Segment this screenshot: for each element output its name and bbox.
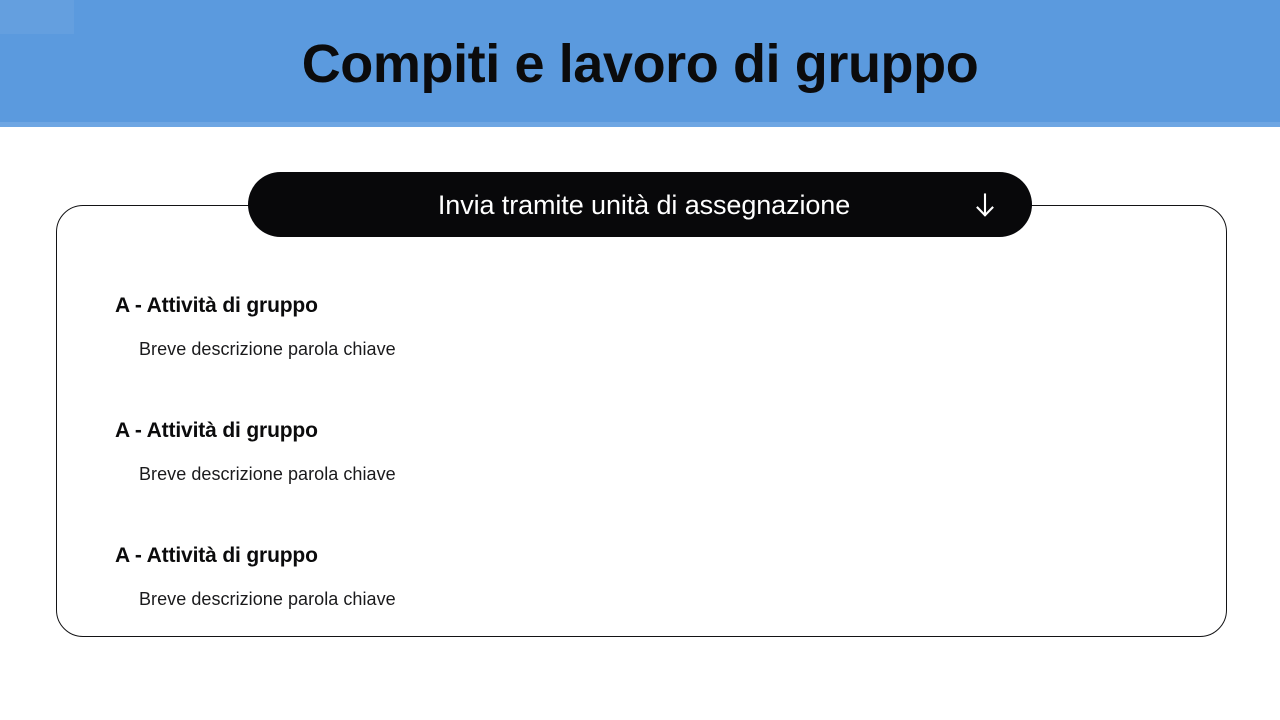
- list-item[interactable]: A - Attività di gruppo Breve descrizione…: [115, 542, 1115, 611]
- send-via-assignment-unit-label: Invia tramite unità di assegnazione: [282, 190, 956, 220]
- list-item[interactable]: A - Attività di gruppo Breve descrizione…: [115, 417, 1115, 486]
- arrow-down-icon: [968, 188, 1002, 222]
- task-description: Breve descrizione parola chiave: [139, 587, 1115, 611]
- header-band-underline: [0, 122, 1280, 127]
- task-title: A - Attività di gruppo: [115, 542, 1115, 570]
- task-description: Breve descrizione parola chiave: [139, 462, 1115, 486]
- slide-root: Compiti e lavoro di gruppo Invia tramite…: [0, 0, 1280, 720]
- page-title: Compiti e lavoro di gruppo: [0, 27, 1280, 101]
- task-title: A - Attività di gruppo: [115, 292, 1115, 320]
- task-list: A - Attività di gruppo Breve descrizione…: [115, 292, 1115, 611]
- task-title: A - Attività di gruppo: [115, 417, 1115, 445]
- send-via-assignment-unit-button[interactable]: Invia tramite unità di assegnazione: [248, 172, 1032, 237]
- task-description: Breve descrizione parola chiave: [139, 337, 1115, 361]
- list-item[interactable]: A - Attività di gruppo Breve descrizione…: [115, 292, 1115, 361]
